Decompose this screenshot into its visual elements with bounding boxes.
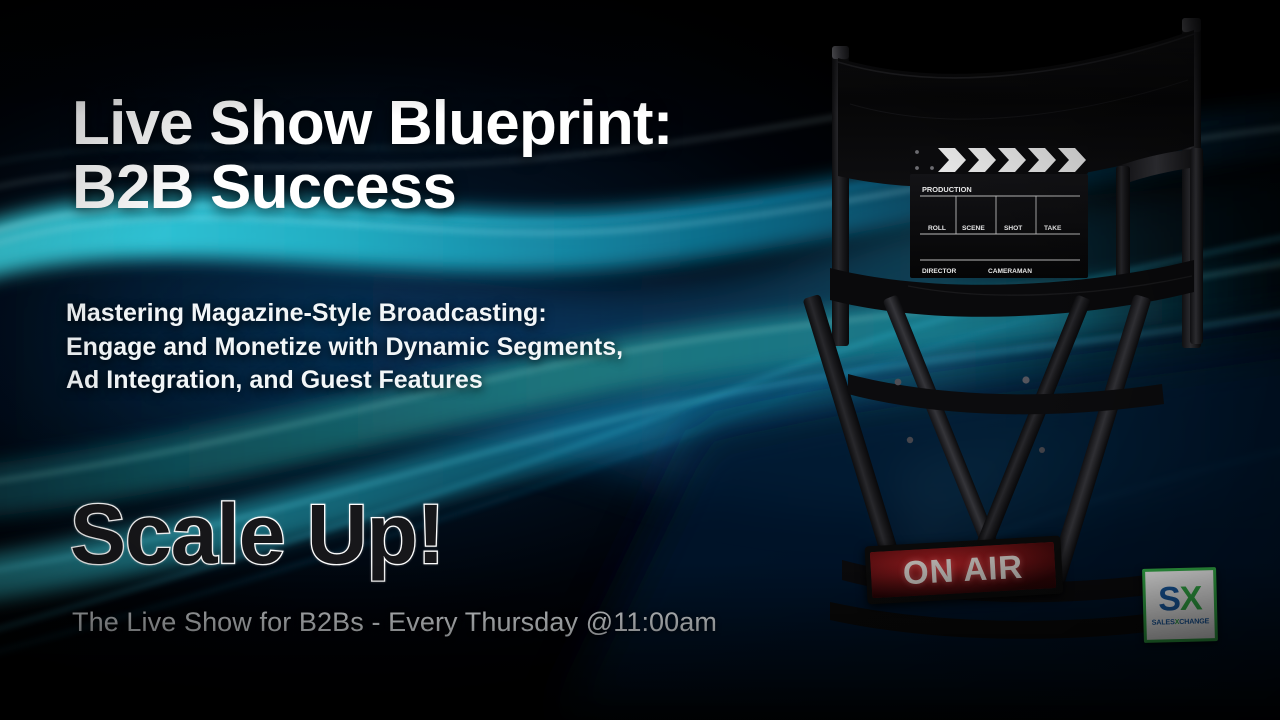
logo-mark-x: X xyxy=(1179,579,1202,618)
logo-mark-s: S xyxy=(1158,580,1181,619)
logo-wordmark-pre: SALES xyxy=(1152,617,1175,627)
clapperboard: PRODUCTION ROLL SCENE SHOT TAKE DIRECTOR… xyxy=(908,140,1090,280)
slide-canvas: PRODUCTION ROLL SCENE SHOT TAKE DIRECTOR… xyxy=(0,0,1280,720)
logo-wordmark: SALESXCHANGE xyxy=(1152,616,1210,627)
salesxchange-logo: SX SALESXCHANGE xyxy=(1142,567,1218,643)
clapper-take-label: TAKE xyxy=(1044,225,1062,232)
show-tagline: The Live Show for B2Bs - Every Thursday … xyxy=(72,607,717,638)
subtitle-line-2: Engage and Monetize with Dynamic Segment… xyxy=(66,331,806,365)
clapper-cameraman-label: CAMERAMAN xyxy=(988,268,1032,275)
show-name-wordmark: Scale Up! xyxy=(70,492,444,576)
clapper-director-label: DIRECTOR xyxy=(922,268,957,275)
clapper-production-label: PRODUCTION xyxy=(922,185,972,194)
on-air-sign: ON AIR xyxy=(865,536,1064,605)
logo-wordmark-post: CHANGE xyxy=(1179,616,1209,626)
logo-mark: SX xyxy=(1158,583,1202,615)
clapper-roll-label: ROLL xyxy=(928,225,946,232)
title-line-2: B2B Success xyxy=(72,156,892,220)
subtitle: Mastering Magazine-Style Broadcasting: E… xyxy=(66,297,806,398)
page-title: Live Show Blueprint: B2B Success xyxy=(72,92,892,220)
on-air-text: ON AIR xyxy=(902,548,1024,593)
title-line-1: Live Show Blueprint: xyxy=(72,89,673,158)
subtitle-line-3: Ad Integration, and Guest Features xyxy=(66,364,806,398)
clapper-scene-label: SCENE xyxy=(962,225,985,232)
logo-card: SX SALESXCHANGE xyxy=(1142,567,1218,643)
clapper-shot-label: SHOT xyxy=(1004,225,1022,232)
subtitle-line-1: Mastering Magazine-Style Broadcasting: xyxy=(66,297,806,331)
